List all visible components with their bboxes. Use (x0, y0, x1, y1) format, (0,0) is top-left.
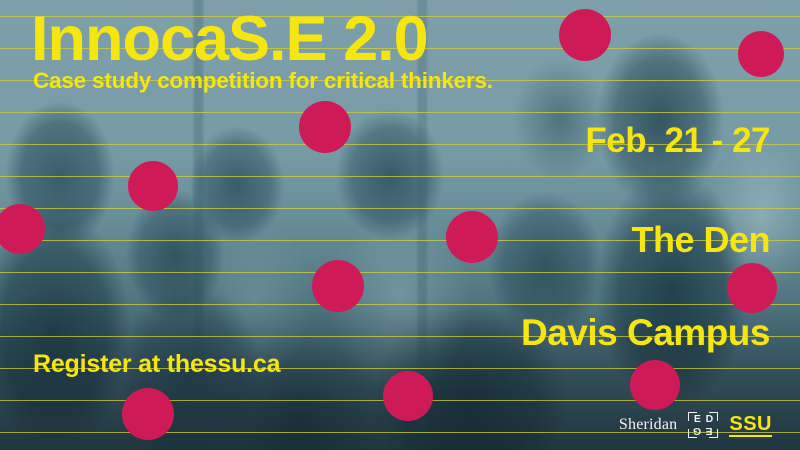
edge-logo-icon: E D G E (688, 412, 718, 438)
edge-letter-3: G (691, 425, 703, 436)
event-campus: Davis Campus (521, 314, 770, 351)
decorative-dot (630, 360, 680, 410)
sheridan-logo: Sheridan (619, 416, 677, 434)
promotional-poster: InnocaS.E 2.0 Case study competition for… (0, 0, 800, 450)
decorative-dot (727, 263, 777, 313)
ssu-logo: SSU (729, 414, 772, 437)
decorative-dot (738, 31, 784, 77)
decorative-dot (559, 9, 611, 61)
decorative-dot (312, 260, 364, 312)
registration-call-to-action[interactable]: Register at thessu.ca (33, 352, 280, 377)
decorative-dot (299, 101, 351, 153)
edge-letter-4: E (703, 425, 715, 436)
decorative-dot (446, 211, 498, 263)
edge-letter-1: E (691, 414, 703, 425)
event-venue: The Den (631, 222, 770, 258)
decorative-dot (383, 371, 433, 421)
event-dates: Feb. 21 - 27 (585, 123, 770, 158)
page-title: InnocaS.E 2.0 (31, 8, 428, 71)
edge-letter-2: D (703, 414, 715, 425)
poster-subtitle: Case study competition for critical thin… (33, 70, 493, 93)
edge-letter-grid: E D G E (691, 414, 715, 436)
decorative-dot (122, 388, 174, 440)
logo-bar: Sheridan E D G E SSU (619, 412, 772, 438)
decorative-dot (128, 161, 178, 211)
decorative-dot (0, 204, 45, 254)
